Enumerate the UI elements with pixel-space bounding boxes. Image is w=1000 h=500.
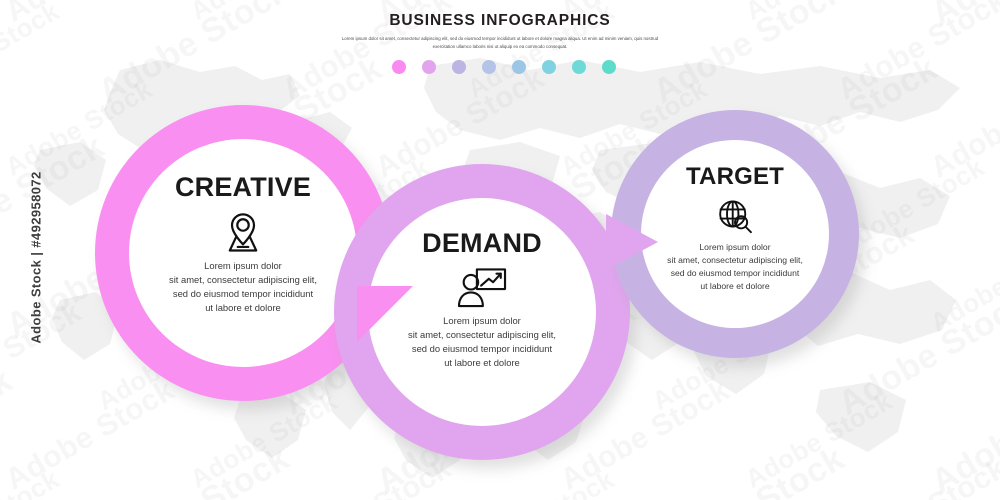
node-desc-line: Lorem ipsum dolor	[364, 314, 600, 328]
dot-legend-row	[392, 60, 616, 74]
node-icon-wrap-demand	[364, 266, 600, 309]
node-desc-line: sed do eiusmod tempor incididunt	[364, 342, 600, 356]
node-desc-line: sit amet, consectetur adipiscing elit,	[364, 328, 600, 342]
node-desc-line: ut labore et dolore	[364, 356, 600, 370]
node-desc-line: sed do eiusmod tempor incididunt	[125, 287, 361, 301]
node-desc-line: sit amet, consectetur adipiscing elit,	[632, 254, 838, 267]
node-desc-creative: Lorem ipsum dolorsit amet, consectetur a…	[125, 259, 361, 315]
dot-1[interactable]	[392, 60, 406, 74]
watermark-text: Adobe Stock	[462, 464, 620, 500]
watermark-text: Adobe Stock	[277, 452, 458, 500]
node-creative[interactable]: CREATIVELorem ipsum dolorsit amet, conse…	[125, 172, 361, 315]
infographic-canvas: Adobe StockAdobe StockAdobe StockAdobe S…	[0, 0, 1000, 500]
node-desc-target: Lorem ipsum dolorsit amet, consectetur a…	[632, 241, 838, 293]
node-desc-line: ut labore et dolore	[632, 280, 838, 293]
watermark-text: Adobe Stock	[92, 439, 296, 500]
watermark-text: Adobe Stock	[925, 361, 1000, 500]
node-icon-wrap-target	[632, 198, 838, 236]
watermark-text: Adobe Stock	[832, 283, 1000, 423]
map-pin-icon	[221, 210, 265, 254]
page-subtitle: Lorem ipsum dolor sit amet, consectetur …	[340, 35, 660, 51]
watermark-text: Adobe Stock	[740, 386, 898, 495]
watermark-text: Adobe Stock	[0, 296, 88, 420]
stock-credit-watermark: Adobe Stock | #492958072	[29, 158, 44, 358]
watermark-text: Adobe Stock	[0, 464, 65, 500]
watermark-text: Adobe Stock	[925, 62, 1000, 186]
node-desc-demand: Lorem ipsum dolorsit amet, consectetur a…	[364, 314, 600, 370]
header: BUSINESS INFOGRAPHICS Lorem ipsum dolor …	[0, 12, 1000, 51]
watermark-text: Adobe Stock	[0, 374, 181, 498]
dot-3[interactable]	[452, 60, 466, 74]
presentation-user-icon	[456, 266, 508, 309]
dot-2[interactable]	[422, 60, 436, 74]
globe-search-icon	[716, 198, 754, 236]
node-target[interactable]: TARGETLorem ipsum dolorsit amet, consect…	[632, 163, 838, 293]
dot-4[interactable]	[482, 60, 496, 74]
dot-5[interactable]	[512, 60, 526, 74]
dot-8[interactable]	[602, 60, 616, 74]
watermark-text: Adobe Stock	[832, 452, 1000, 500]
node-title-demand: DEMAND	[364, 228, 600, 259]
node-demand[interactable]: DEMANDLorem ipsum dolorsit amet, consect…	[364, 228, 600, 370]
page-title: BUSINESS INFOGRAPHICS	[0, 12, 1000, 30]
node-title-creative: CREATIVE	[125, 172, 361, 203]
node-title-target: TARGET	[632, 163, 838, 191]
node-icon-wrap-creative	[125, 210, 361, 254]
node-desc-line: Lorem ipsum dolor	[125, 259, 361, 273]
node-desc-line: Lorem ipsum dolor	[632, 241, 838, 254]
dot-7[interactable]	[572, 60, 586, 74]
node-desc-line: ut labore et dolore	[125, 301, 361, 315]
node-desc-line: sed do eiusmod tempor incididunt	[632, 267, 838, 280]
node-desc-line: sit amet, consectetur adipiscing elit,	[125, 273, 361, 287]
dot-6[interactable]	[542, 60, 556, 74]
watermark-text: Adobe Stock	[0, 361, 19, 500]
watermark-text: Adobe Stock	[925, 230, 1000, 339]
watermark-text: Adobe Stock	[647, 439, 851, 500]
